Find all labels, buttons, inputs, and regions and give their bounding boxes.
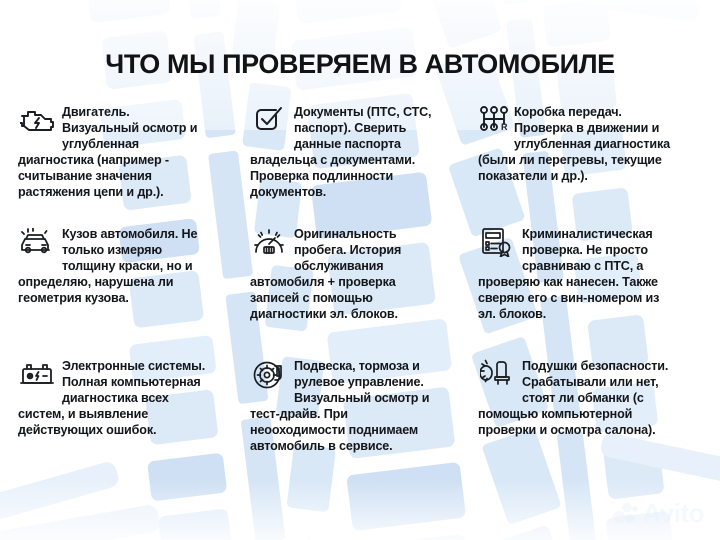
bg-shape — [579, 0, 701, 22]
checklist-item-lead: Коробка передач. — [514, 105, 622, 119]
engine-icon — [18, 106, 56, 140]
svg-text:R: R — [501, 122, 508, 132]
avito-watermark-text: Avito — [642, 500, 704, 526]
avito-watermark: Avito — [612, 500, 704, 526]
forensic-document-seal-icon — [478, 227, 516, 261]
checklist-item-electronics: Электронные системы. Полная компьютерная… — [18, 358, 250, 455]
bg-shape — [0, 503, 161, 540]
checklist-item-documents: Документы (ПТС, СТС, паспорт). Сверить д… — [250, 104, 478, 226]
checklist-item-airbags: Подушки безопасности. Срабатывали или не… — [478, 358, 710, 455]
car-body-shine-icon — [18, 228, 56, 262]
brake-disc-icon — [250, 360, 288, 394]
checklist-item-lead: Подвеска, тормоза и рулевое управление. — [294, 359, 424, 389]
checklist-item-body-condition: Кузов автомобиля. Не только измеряю толщ… — [18, 226, 250, 358]
checklist-item-lead: Кузов автомобиля. — [62, 227, 178, 241]
checklist-item-gearbox: R Коробка передач. Проверка в движении и… — [478, 104, 710, 226]
gear-shifter-icon: R — [478, 106, 512, 140]
car-battery-icon — [18, 360, 56, 394]
odometer-icon — [250, 228, 288, 262]
checklist-item-mileage: Оригинальность пробега. История обслужив… — [250, 226, 478, 358]
checklist-item-suspension: Подвеска, тормоза и рулевое управление. … — [250, 358, 478, 455]
checkbox-check-icon — [250, 106, 288, 140]
infographic-poster: ЧТО МЫ ПРОВЕРЯЕМ В АВТОМОБИЛЕ Двигатель.… — [0, 0, 720, 540]
checklist-item-body: Визуальный осмотр и тест-драйв. При неоо… — [250, 391, 429, 453]
checklist-item-engine: Двигатель. Визуальный осмотр и углубленн… — [18, 104, 250, 226]
checklist-item-lead: Двигатель. — [62, 105, 130, 119]
checklist-item-lead: Подушки безопасности. — [522, 359, 668, 373]
page-title: ЧТО МЫ ПРОВЕРЯЕМ В АВТОМОБИЛЕ — [0, 48, 720, 80]
checklist-grid: Двигатель. Визуальный осмотр и углубленн… — [18, 104, 708, 455]
checklist-item-lead: Электронные системы. — [62, 359, 205, 373]
checklist-item-forensic: Криминалистическая проверка. Не просто с… — [478, 226, 710, 358]
airbag-seat-icon — [478, 359, 516, 393]
bg-shape — [0, 460, 121, 526]
avito-logo-icon — [612, 501, 638, 525]
